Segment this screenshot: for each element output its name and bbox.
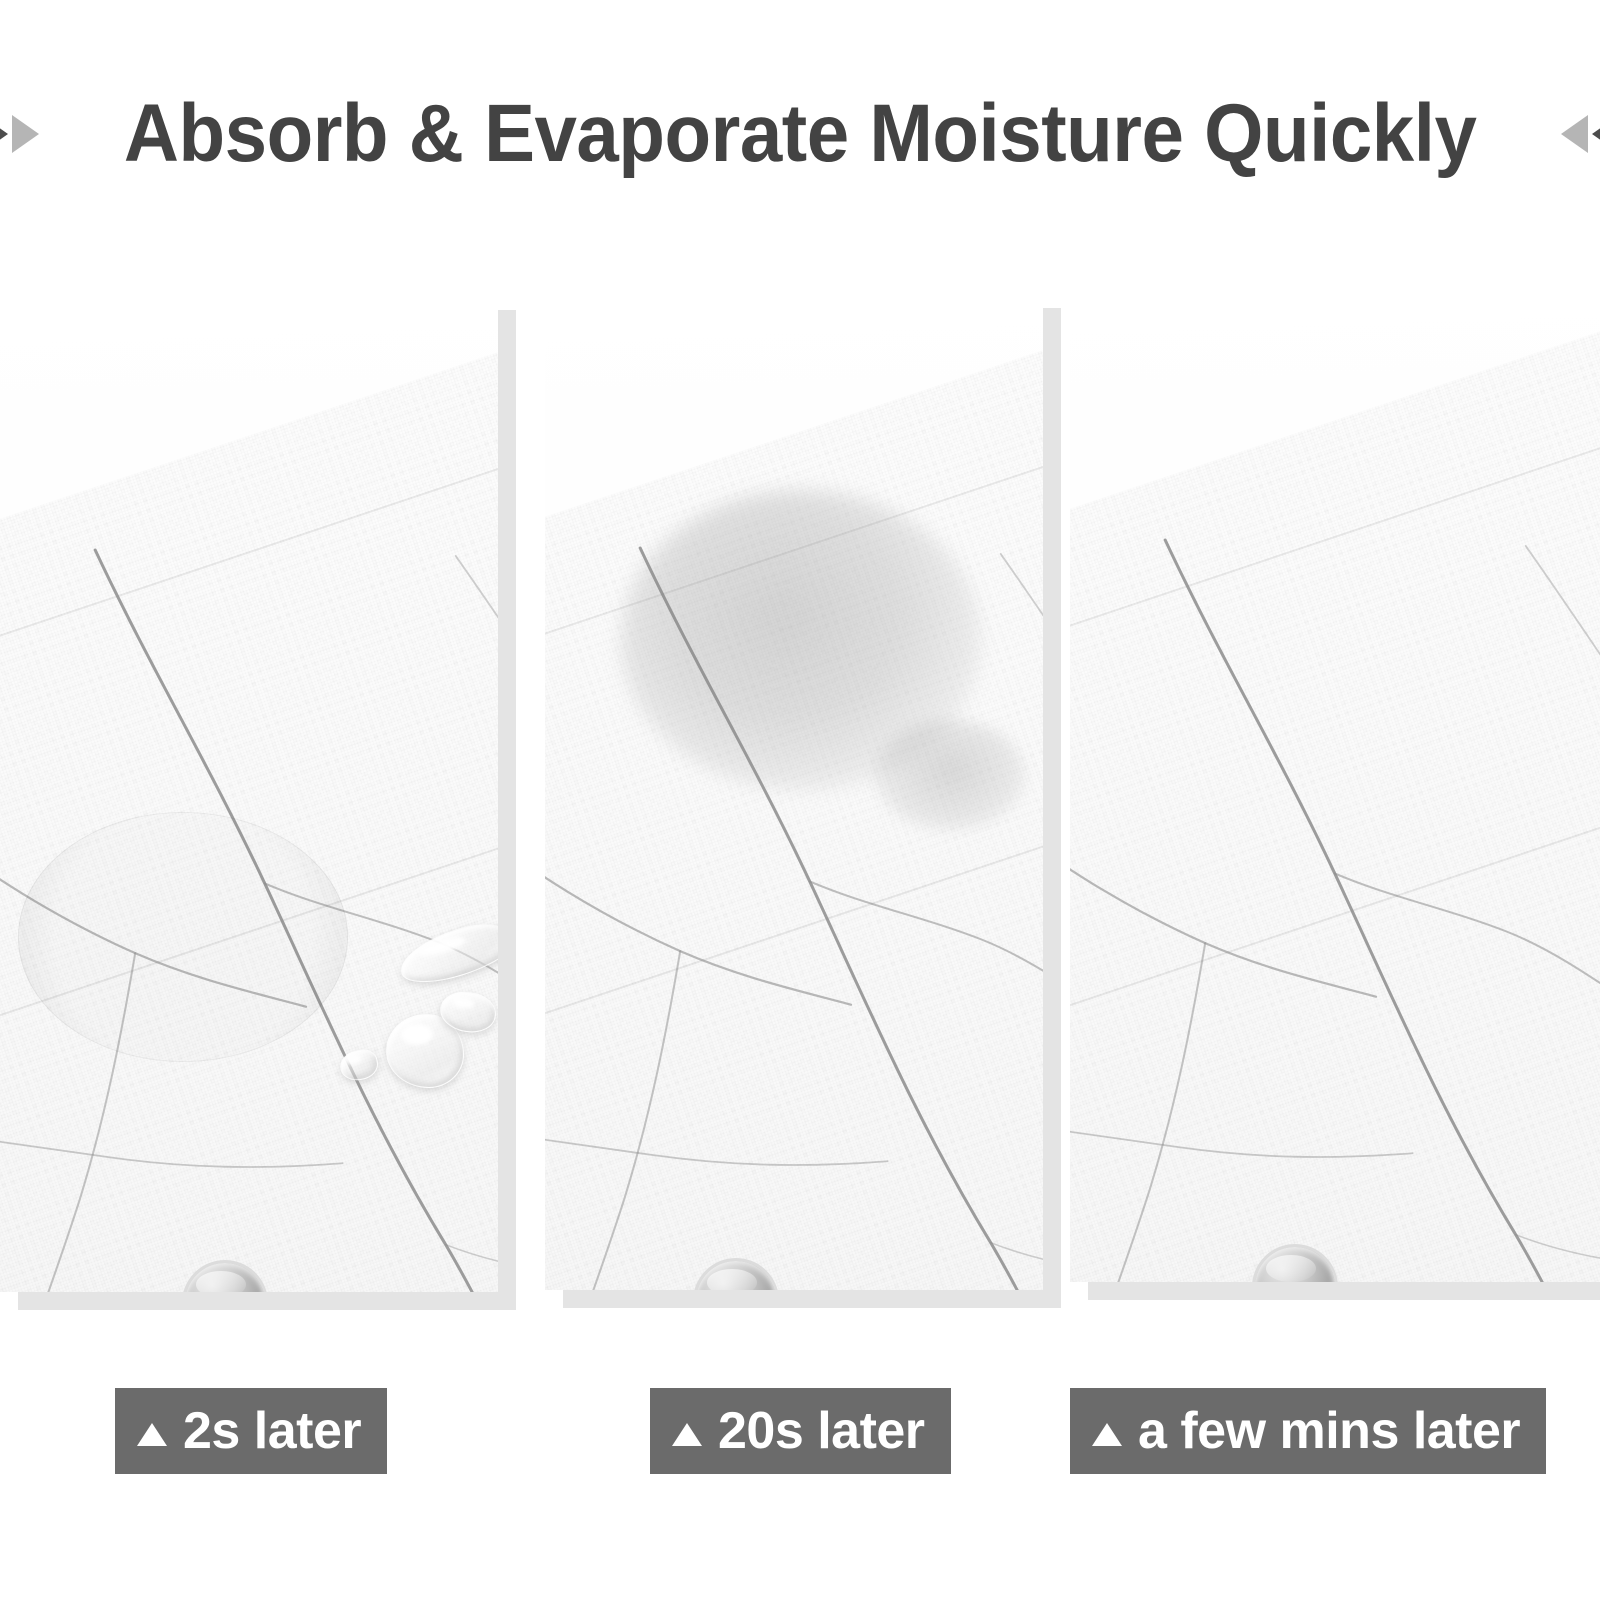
water-spill-ring <box>18 812 348 1062</box>
caption-badge-panel-3: a few mins later <box>1070 1388 1546 1474</box>
caption-label: 20s later <box>718 1405 925 1457</box>
comparison-panel-group <box>0 0 1600 1600</box>
absorbent-mat <box>1070 282 1600 1282</box>
damp-patch <box>875 720 1025 830</box>
triangle-up-icon <box>672 1423 702 1446</box>
marble-veining <box>1070 282 1600 1282</box>
product-photo-stage-beaded <box>0 292 498 1292</box>
product-photo-panel-1 <box>0 292 498 1292</box>
caption-label: 2s later <box>183 1405 361 1457</box>
triangle-up-icon <box>137 1423 167 1446</box>
product-photo-panel-2 <box>545 290 1043 1290</box>
marble-veining <box>0 292 498 1292</box>
mat-groove <box>0 391 498 764</box>
product-photo-panel-3 <box>1070 282 1600 1282</box>
caption-badge-panel-1: 2s later <box>115 1388 387 1474</box>
triangle-up-icon <box>1092 1423 1122 1446</box>
caption-badge-panel-2: 20s later <box>650 1388 951 1474</box>
absorbent-mat <box>0 292 498 1292</box>
product-photo-stage-dry <box>1070 282 1600 1282</box>
product-photo-stage-absorbing <box>545 290 1043 1290</box>
caption-label: a few mins later <box>1138 1405 1520 1457</box>
mat-groove <box>1070 723 1600 1096</box>
mat-groove <box>1070 381 1600 754</box>
